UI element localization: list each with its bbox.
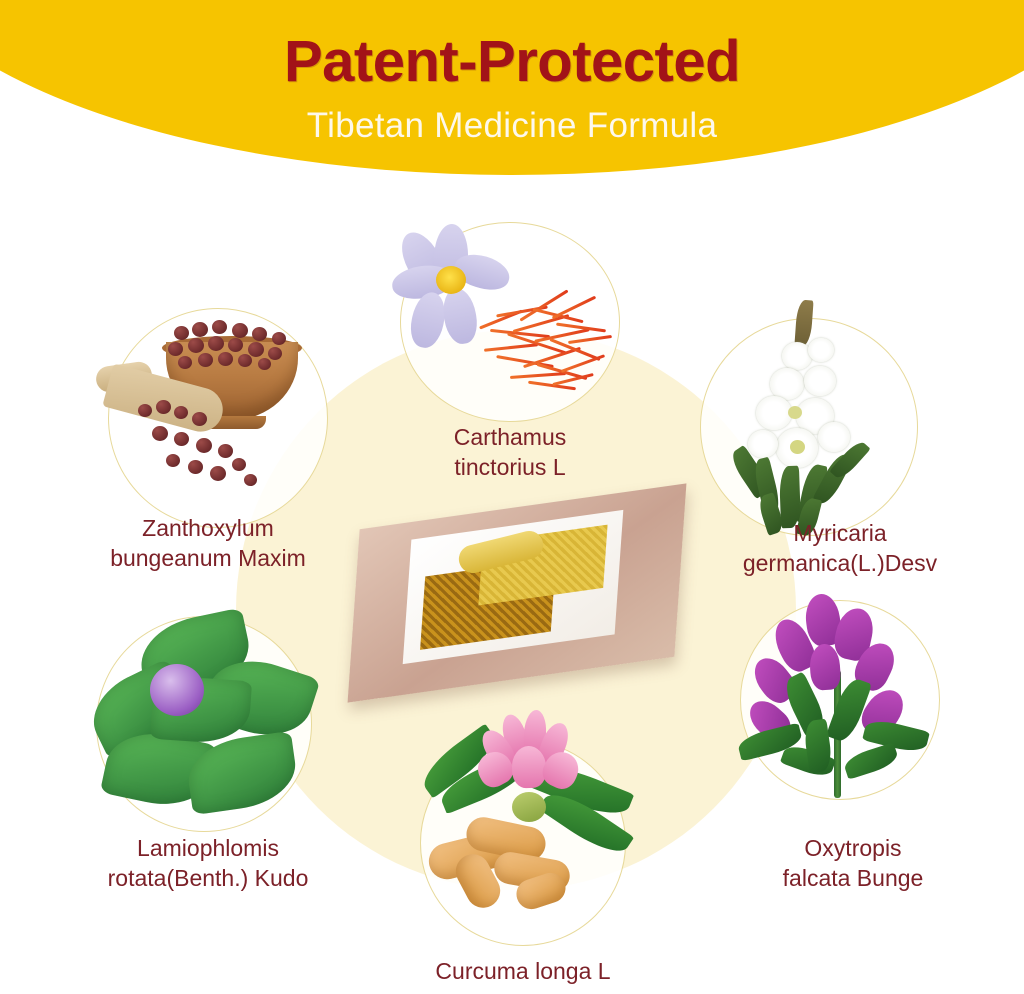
caption-zanthoxylum: Zanthoxylum bungeanum Maxim	[58, 513, 358, 574]
caption-oxytropis: Oxytropis falcata Bunge	[718, 833, 988, 894]
header-banner: Patent-Protected Tibetan Medicine Formul…	[0, 0, 1024, 175]
ingredient-circle-myricaria[interactable]	[700, 318, 918, 536]
myricaria-flower-spike-icon	[700, 318, 918, 536]
page-title: Patent-Protected	[0, 0, 1024, 91]
ingredient-circle-zanthoxylum[interactable]	[108, 308, 328, 528]
oxytropis-flower-icon	[740, 600, 940, 800]
ingredient-circle-curcuma[interactable]	[420, 740, 626, 946]
turmeric-icon	[420, 740, 626, 946]
caption-myricaria: Myricaria germanica(L.)Desv	[700, 518, 980, 579]
center-product-plaster	[330, 490, 710, 720]
safflower-crocus-icon	[400, 222, 620, 422]
ingredient-circle-carthamus[interactable]	[400, 222, 620, 422]
banner-text-block: Patent-Protected Tibetan Medicine Formul…	[0, 0, 1024, 143]
caption-lamiophlomis: Lamiophlomis rotata(Benth.) Kudo	[58, 833, 358, 894]
ingredient-circle-lamiophlomis[interactable]	[96, 616, 312, 832]
peppercorn-bowl-icon	[108, 308, 328, 528]
lamiophlomis-leaves-icon	[96, 616, 312, 832]
caption-carthamus: Carthamus tinctorius L	[390, 422, 630, 483]
page-subtitle: Tibetan Medicine Formula	[0, 91, 1024, 143]
ingredient-circle-oxytropis[interactable]	[740, 600, 940, 800]
caption-curcuma: Curcuma longa L	[383, 956, 663, 986]
